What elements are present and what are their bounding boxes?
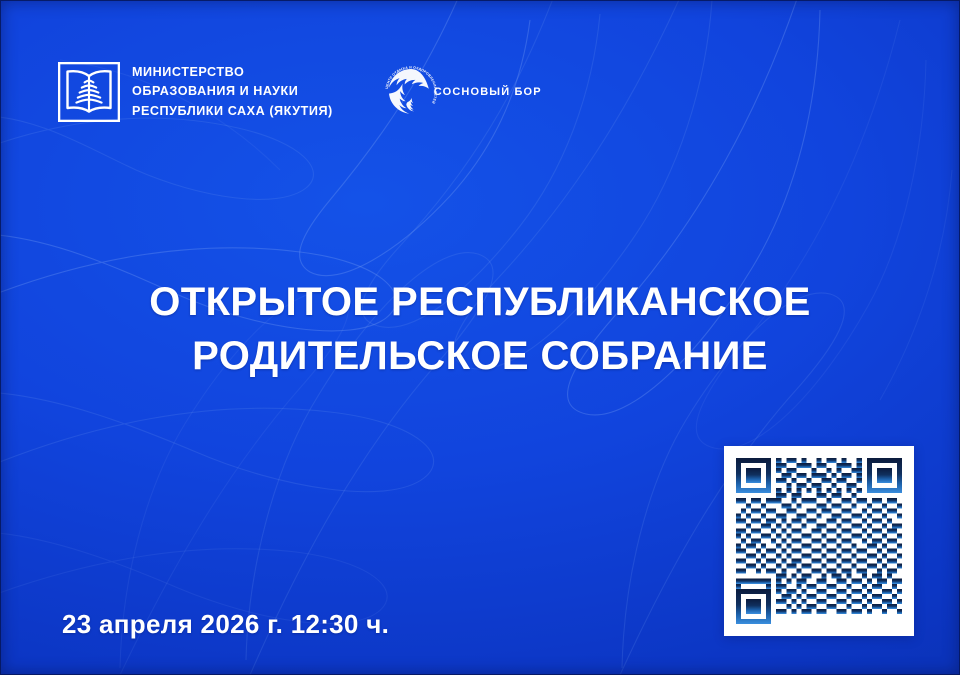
ministry-line-1: МИНИСТЕРСТВО [132,63,333,82]
ministry-line-3: РЕСПУБЛИКИ САХА (ЯКУТИЯ) [132,102,333,121]
page-title: ОТКРЫТОЕ РЕСПУБЛИКАНСКОЕ РОДИТЕЛЬСКОЕ СО… [0,276,960,383]
header-logos: МИНИСТЕРСТВО ОБРАЗОВАНИЯ И НАУКИ РЕСПУБЛ… [58,62,542,122]
circular-ornament-emblem-icon: ЦЕНТР ОТДЫХА И ОЗДОРОВЛЕНИЯ ДЕТЕЙ [381,62,441,122]
ministry-line-2: ОБРАЗОВАНИЯ И НАУКИ [132,82,333,101]
camp-logo: ЦЕНТР ОТДЫХА И ОЗДОРОВЛЕНИЯ ДЕТЕЙ СОСНОВ… [381,62,542,122]
poster-canvas: МИНИСТЕРСТВО ОБРАЗОВАНИЯ И НАУКИ РЕСПУБЛ… [0,0,960,675]
open-book-with-tree-icon [58,62,120,122]
qr-code-card[interactable] [724,446,914,636]
qr-code[interactable] [736,458,902,624]
title-line-2: РОДИТЕЛЬСКОЕ СОБРАНИЕ [0,330,960,384]
ministry-logo: МИНИСТЕРСТВО ОБРАЗОВАНИЯ И НАУКИ РЕСПУБЛ… [58,62,333,122]
event-datetime: 23 апреля 2026 г. 12:30 ч. [62,609,389,640]
title-line-1: ОТКРЫТОЕ РЕСПУБЛИКАНСКОЕ [0,276,960,330]
camp-name-label: СОСНОВЫЙ БОР [434,86,542,98]
ministry-name-text: МИНИСТЕРСТВО ОБРАЗОВАНИЯ И НАУКИ РЕСПУБЛ… [132,63,333,120]
